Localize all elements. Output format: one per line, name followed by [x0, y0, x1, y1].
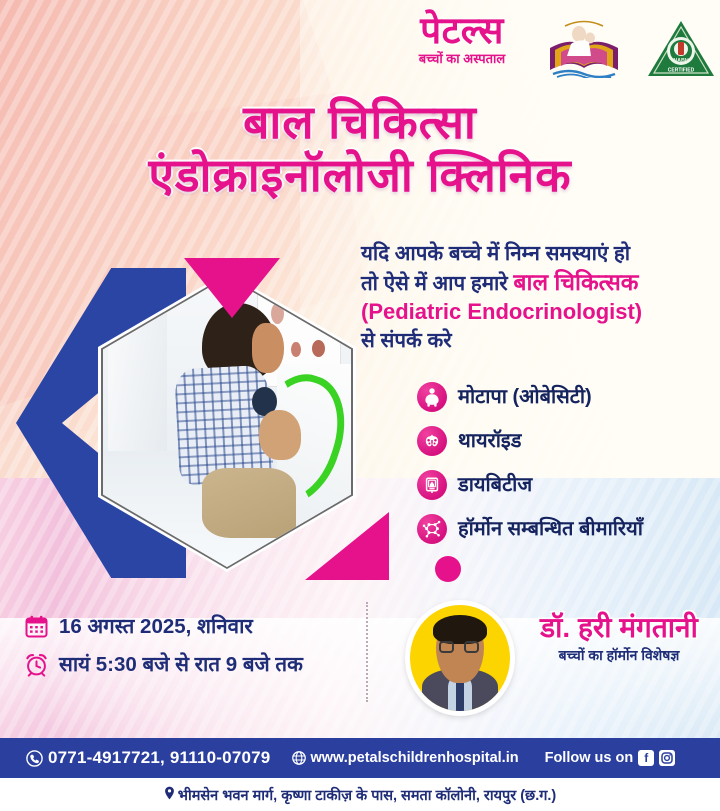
doctor-block: डॉ. हरी मंगतानी बच्चों का हॉर्मोन विशेषज… [405, 596, 715, 716]
doctor-tie [456, 683, 464, 711]
photo-doctor-hand [259, 410, 301, 459]
intro-copy: यदि आपके बच्चे में निम्न समस्याएं हो तो … [361, 240, 713, 354]
list-item: डायबिटीज [417, 470, 717, 500]
nabh-certified-logo: NABH CERTIFIED [646, 18, 716, 80]
poster-title: बाल चिकित्सा एंडोक्राइनॉलोजी क्लिनिक [0, 98, 720, 200]
vertical-divider [366, 602, 368, 702]
schedule-date-row: 16 अगस्त 2025, शनिवार [24, 612, 354, 640]
footer-phone-text: 0771-4917721, 91110-07079 [48, 748, 270, 768]
obesity-icon [417, 382, 447, 412]
calendar-icon [24, 614, 49, 639]
title-line-1: बाल चिकित्सा [0, 98, 720, 147]
poster: पेटल्स बच्चों का अस्पताल NABH CERTIFIED [0, 0, 720, 811]
copy-line-2-prefix: तो ऐसे में आप हमारे [361, 272, 513, 295]
glucometer-icon [417, 470, 447, 500]
list-item: मोटापा (ओबेसिटी) [417, 382, 717, 412]
title-line-2: एंडोक्राइनॉलोजी क्लिनिक [0, 151, 720, 200]
photo-child-trousers [202, 468, 296, 538]
phone-icon [26, 750, 43, 767]
schedule-block: 16 अगस्त 2025, शनिवार सायं 5:30 बजे से र… [24, 612, 354, 688]
list-item-label: थायरॉइड [458, 430, 521, 452]
schedule-time-row: सायं 5:30 बजे से रात 9 बजे तक [24, 650, 354, 678]
pink-dot-accent [435, 556, 461, 582]
thyroid-icon [417, 426, 447, 456]
list-item: थायरॉइड [417, 426, 717, 456]
brand-logo: पेटल्स बच्चों का अस्पताल [392, 12, 532, 65]
footer-address-text: भीमसेन भवन मार्ग, कृष्णा टाकीज़ के पास, … [178, 785, 557, 805]
globe-icon [292, 751, 306, 765]
header: पेटल्स बच्चों का अस्पताल NABH CERTIFIED [0, 0, 720, 92]
doctor-portrait [410, 605, 510, 711]
book-mother-child-logo [545, 18, 623, 78]
doctor-glasses-left [439, 641, 454, 653]
list-item: हॉर्मोन सम्बन्धित बीमारियाँ [417, 514, 717, 544]
alarm-clock-icon [24, 652, 49, 677]
copy-line-1: यदि आपके बच्चे में निम्न समस्याएं हो [361, 240, 713, 267]
photo-child-face [252, 323, 284, 372]
footer-website-text: www.petalschildrenhospital.in [310, 750, 518, 766]
hexagon-photo-frame [98, 272, 356, 572]
schedule-date: 16 अगस्त 2025, शनिवार [59, 612, 253, 640]
hero-photo-block [16, 258, 366, 588]
doctor-hair [433, 615, 487, 645]
doctor-glasses-right [464, 641, 479, 653]
copy-line-2-highlight: बाल चिकित्सक [513, 269, 638, 295]
footer-website[interactable]: www.petalschildrenhospital.in [292, 750, 518, 766]
nabh-certified-label: CERTIFIED [668, 68, 695, 74]
doctor-name: डॉ. हरी मंगतानी [523, 614, 715, 642]
list-item-label: मोटापा (ओबेसिटी) [458, 386, 592, 408]
molecule-icon [417, 514, 447, 544]
brand-tagline: बच्चों का अस्पताल [392, 52, 532, 65]
copy-line-3-english: (Pediatric Endocrinologist) [361, 298, 713, 327]
footer-follow-label: Follow us on [545, 750, 634, 766]
footer-follow: Follow us on f [545, 750, 676, 766]
svg-text:NABH: NABH [673, 58, 689, 64]
copy-line-2: तो ऐसे में आप हमारे बाल चिकित्सक [361, 267, 713, 298]
instagram-icon[interactable] [659, 750, 675, 766]
list-item-label: डायबिटीज [458, 474, 532, 496]
footer-address-bar: भीमसेन भवन मार्ग, कृष्णा टाकीज़ के पास, … [0, 778, 720, 811]
facebook-icon[interactable]: f [638, 750, 654, 766]
copy-line-4: से संपर्क करे [361, 327, 713, 354]
footer-phone[interactable]: 0771-4917721, 91110-07079 [26, 748, 270, 768]
schedule-time: सायं 5:30 बजे से रात 9 बजे तक [59, 650, 303, 678]
symptom-list: मोटापा (ओबेसिटी) थायरॉइड [417, 382, 717, 558]
child-with-stethoscope-photo [103, 277, 351, 567]
footer-contact-bar: 0771-4917721, 91110-07079 www.petalschil… [0, 738, 720, 778]
list-item-label: हॉर्मोन सम्बन्धित बीमारियाँ [458, 518, 643, 540]
doctor-role: बच्चों का हॉर्मोन विशेषज्ञ [523, 648, 715, 663]
location-pin-icon [164, 786, 175, 803]
brand-name: पेटल्स [392, 12, 532, 49]
